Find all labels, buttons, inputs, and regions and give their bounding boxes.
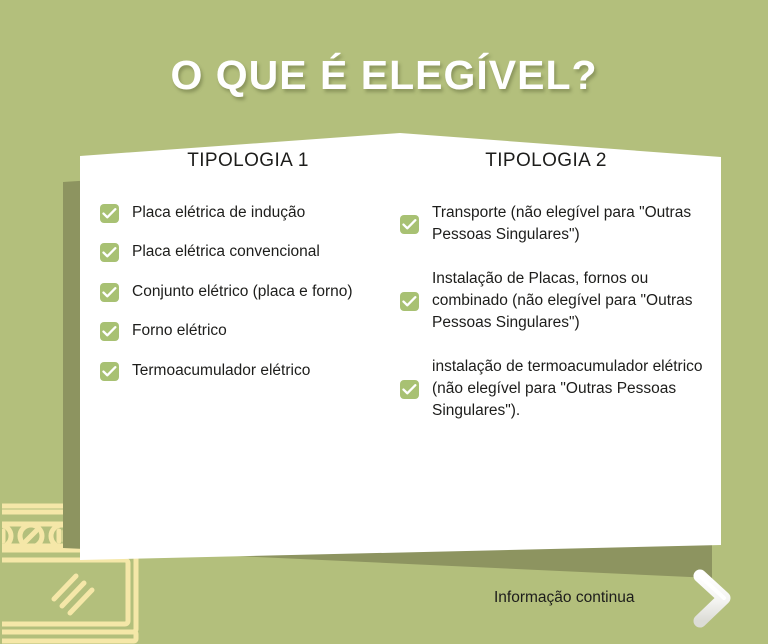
arrow-right-icon[interactable] bbox=[668, 568, 740, 630]
list-item-label: Placa elétrica de indução bbox=[132, 202, 305, 224]
check-icon[interactable] bbox=[100, 204, 119, 223]
check-icon[interactable] bbox=[100, 322, 119, 341]
column-tipologia-1: TIPOLOGIA 1 Placa elétrica de indução Pl… bbox=[100, 150, 420, 399]
list-item[interactable]: Placa elétrica convencional bbox=[100, 241, 420, 263]
check-icon[interactable] bbox=[400, 380, 419, 399]
list-item[interactable]: Transporte (não elegível para "Outras Pe… bbox=[400, 202, 710, 246]
list-item-label: Termoacumulador elétrico bbox=[132, 360, 310, 382]
check-icon[interactable] bbox=[100, 283, 119, 302]
check-icon[interactable] bbox=[100, 243, 119, 262]
list-item-label: Instalação de Placas, fornos ou combinad… bbox=[432, 268, 710, 334]
column-2-heading: TIPOLOGIA 2 bbox=[400, 150, 710, 172]
list-item[interactable]: Instalação de Placas, fornos ou combinad… bbox=[400, 268, 710, 334]
card-content: TIPOLOGIA 1 Placa elétrica de indução Pl… bbox=[80, 150, 725, 550]
page-title: O QUE É ELEGÍVEL? bbox=[0, 52, 768, 99]
list-item-label: Forno elétrico bbox=[132, 320, 227, 342]
list-item-label: instalação de termoacumulador elétrico (… bbox=[432, 356, 710, 422]
column-1-heading: TIPOLOGIA 1 bbox=[100, 150, 420, 172]
list-item[interactable]: Termoacumulador elétrico bbox=[100, 360, 420, 382]
list-item-label: Placa elétrica convencional bbox=[132, 241, 320, 263]
tipologia-2-list: Transporte (não elegível para "Outras Pe… bbox=[400, 202, 710, 422]
column-tipologia-2: TIPOLOGIA 2 Transporte (não elegível par… bbox=[400, 150, 710, 444]
list-item[interactable]: Placa elétrica de indução bbox=[100, 202, 420, 224]
check-icon[interactable] bbox=[100, 362, 119, 381]
list-item-label: Transporte (não elegível para "Outras Pe… bbox=[432, 202, 710, 246]
slide-root: O QUE É ELEGÍVEL? TIPOLOGIA 1 Placa elét… bbox=[0, 0, 768, 644]
check-icon[interactable] bbox=[400, 292, 419, 311]
list-item[interactable]: Forno elétrico bbox=[100, 320, 420, 342]
list-item-label: Conjunto elétrico (placa e forno) bbox=[132, 281, 353, 303]
check-icon[interactable] bbox=[400, 215, 419, 234]
tipologia-1-list: Placa elétrica de indução Placa elétrica… bbox=[100, 202, 420, 382]
list-item[interactable]: instalação de termoacumulador elétrico (… bbox=[400, 356, 710, 422]
list-item[interactable]: Conjunto elétrico (placa e forno) bbox=[100, 281, 420, 303]
footer-continuation-label: Informação continua bbox=[494, 589, 634, 607]
